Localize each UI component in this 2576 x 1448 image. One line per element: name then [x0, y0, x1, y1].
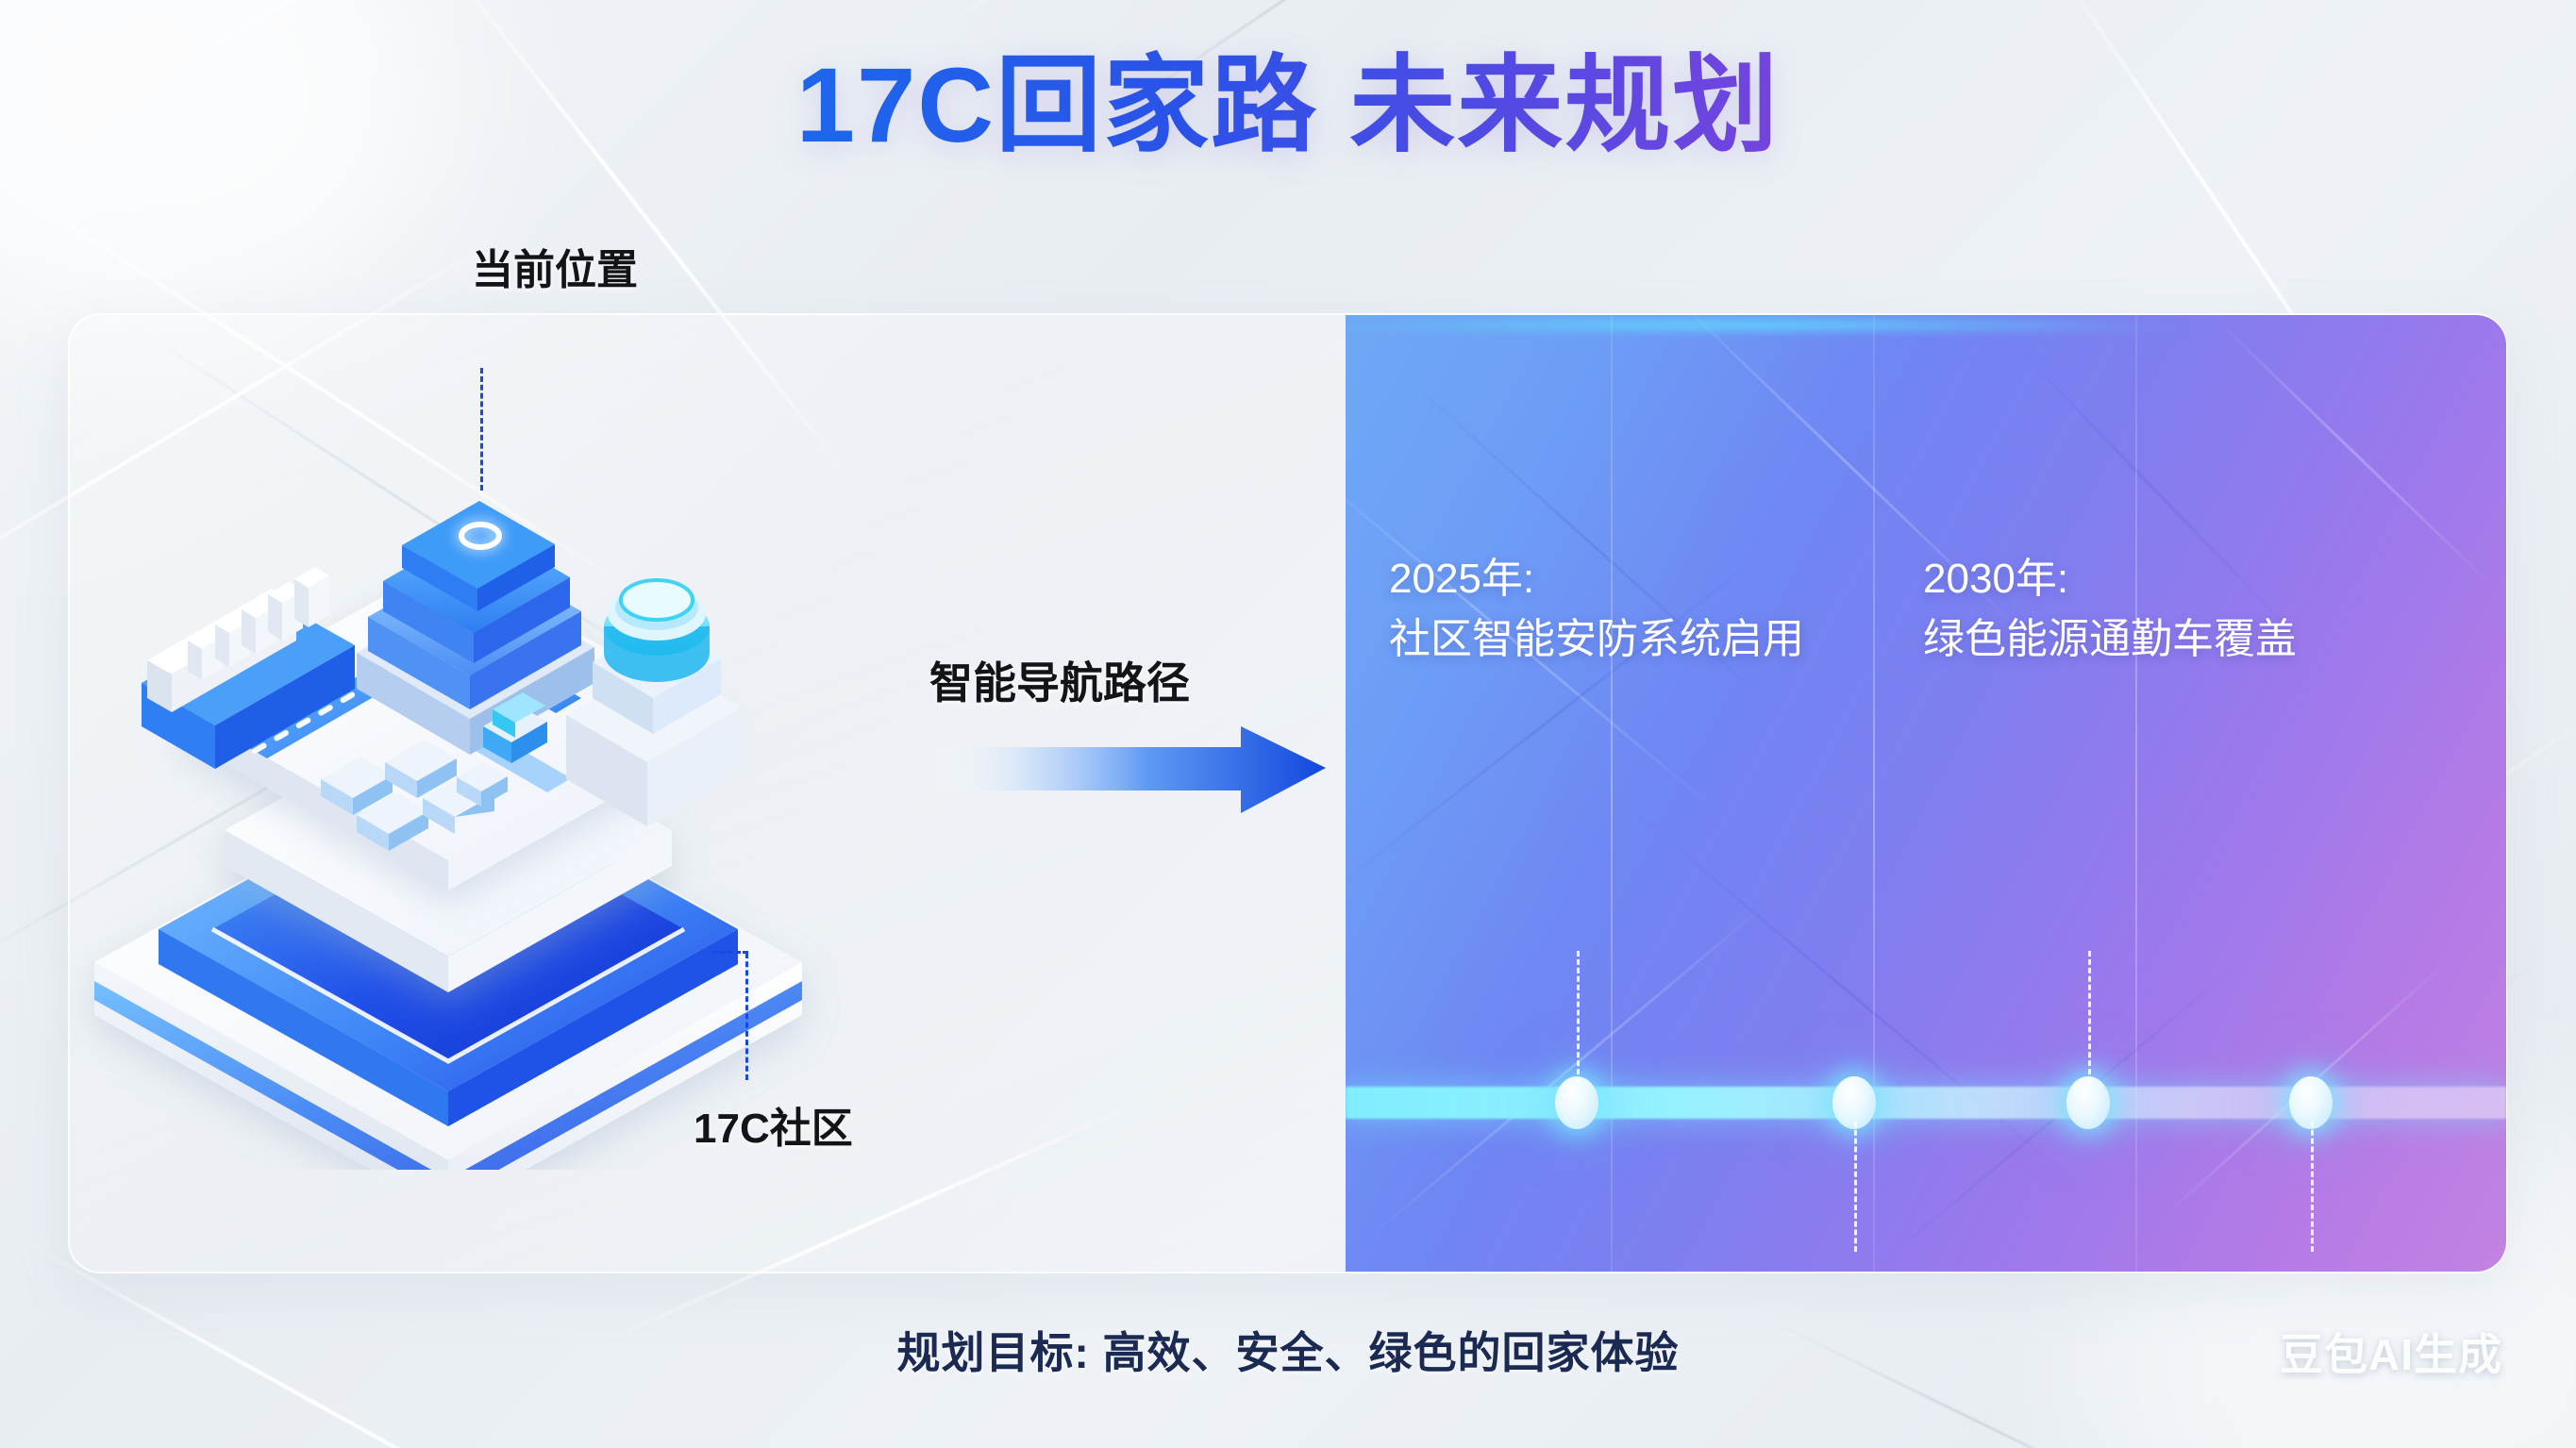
cylinder-tower [566, 580, 742, 826]
timeline-node-1[interactable] [1555, 1076, 1598, 1129]
milestone-1-label: 2025年: 社区智能安防系统启用 [1389, 549, 1804, 670]
current-location-label: 当前位置 [472, 236, 638, 296]
footer-note: 规划目标: 高效、安全、绿色的回家体验 [0, 1319, 2576, 1381]
isometric-city-svg [57, 415, 849, 1170]
milestone-3-label: 2030年: 绿色能源通勤车覆盖 [1923, 549, 2297, 670]
timeline-connector-4 [2311, 1122, 2314, 1252]
community-leader [745, 953, 748, 1080]
timeline-node-3[interactable] [2066, 1076, 2110, 1129]
page-title: 17C回家路 未来规划 [0, 45, 2576, 167]
milestone-1-year: 2025年: [1389, 549, 1804, 609]
timeline-panel: 2025年: 社区智能安防系统启用 2030年: 绿色能源通勤车覆盖 2030年… [1346, 315, 2506, 1272]
milestone-1-text: 社区智能安防系统启用 [1389, 616, 1804, 662]
timeline-connector-3 [2088, 951, 2091, 1083]
community-leader-elbow [712, 951, 748, 954]
milestone-3-year: 2030年: [1923, 549, 2297, 609]
watermark: 豆包AI生成 [2280, 1321, 2502, 1383]
milestone-3-text: 绿色能源通勤车覆盖 [1923, 616, 2297, 662]
community-label: 17C社区 [694, 1094, 853, 1155]
isometric-city-illustration [57, 415, 849, 1170]
current-location-leader [480, 368, 483, 491]
timeline-connector-2 [1854, 1122, 1857, 1252]
right-arrow-icon [929, 726, 1326, 868]
poster-canvas: 17C回家路 未来规划 [0, 0, 2576, 1448]
nav-path-label: 智能导航路径 [929, 649, 1190, 711]
smart-navigation-arrow-group: 智能导航路径 [929, 726, 1326, 868]
timeline-connector-1 [1577, 951, 1580, 1083]
